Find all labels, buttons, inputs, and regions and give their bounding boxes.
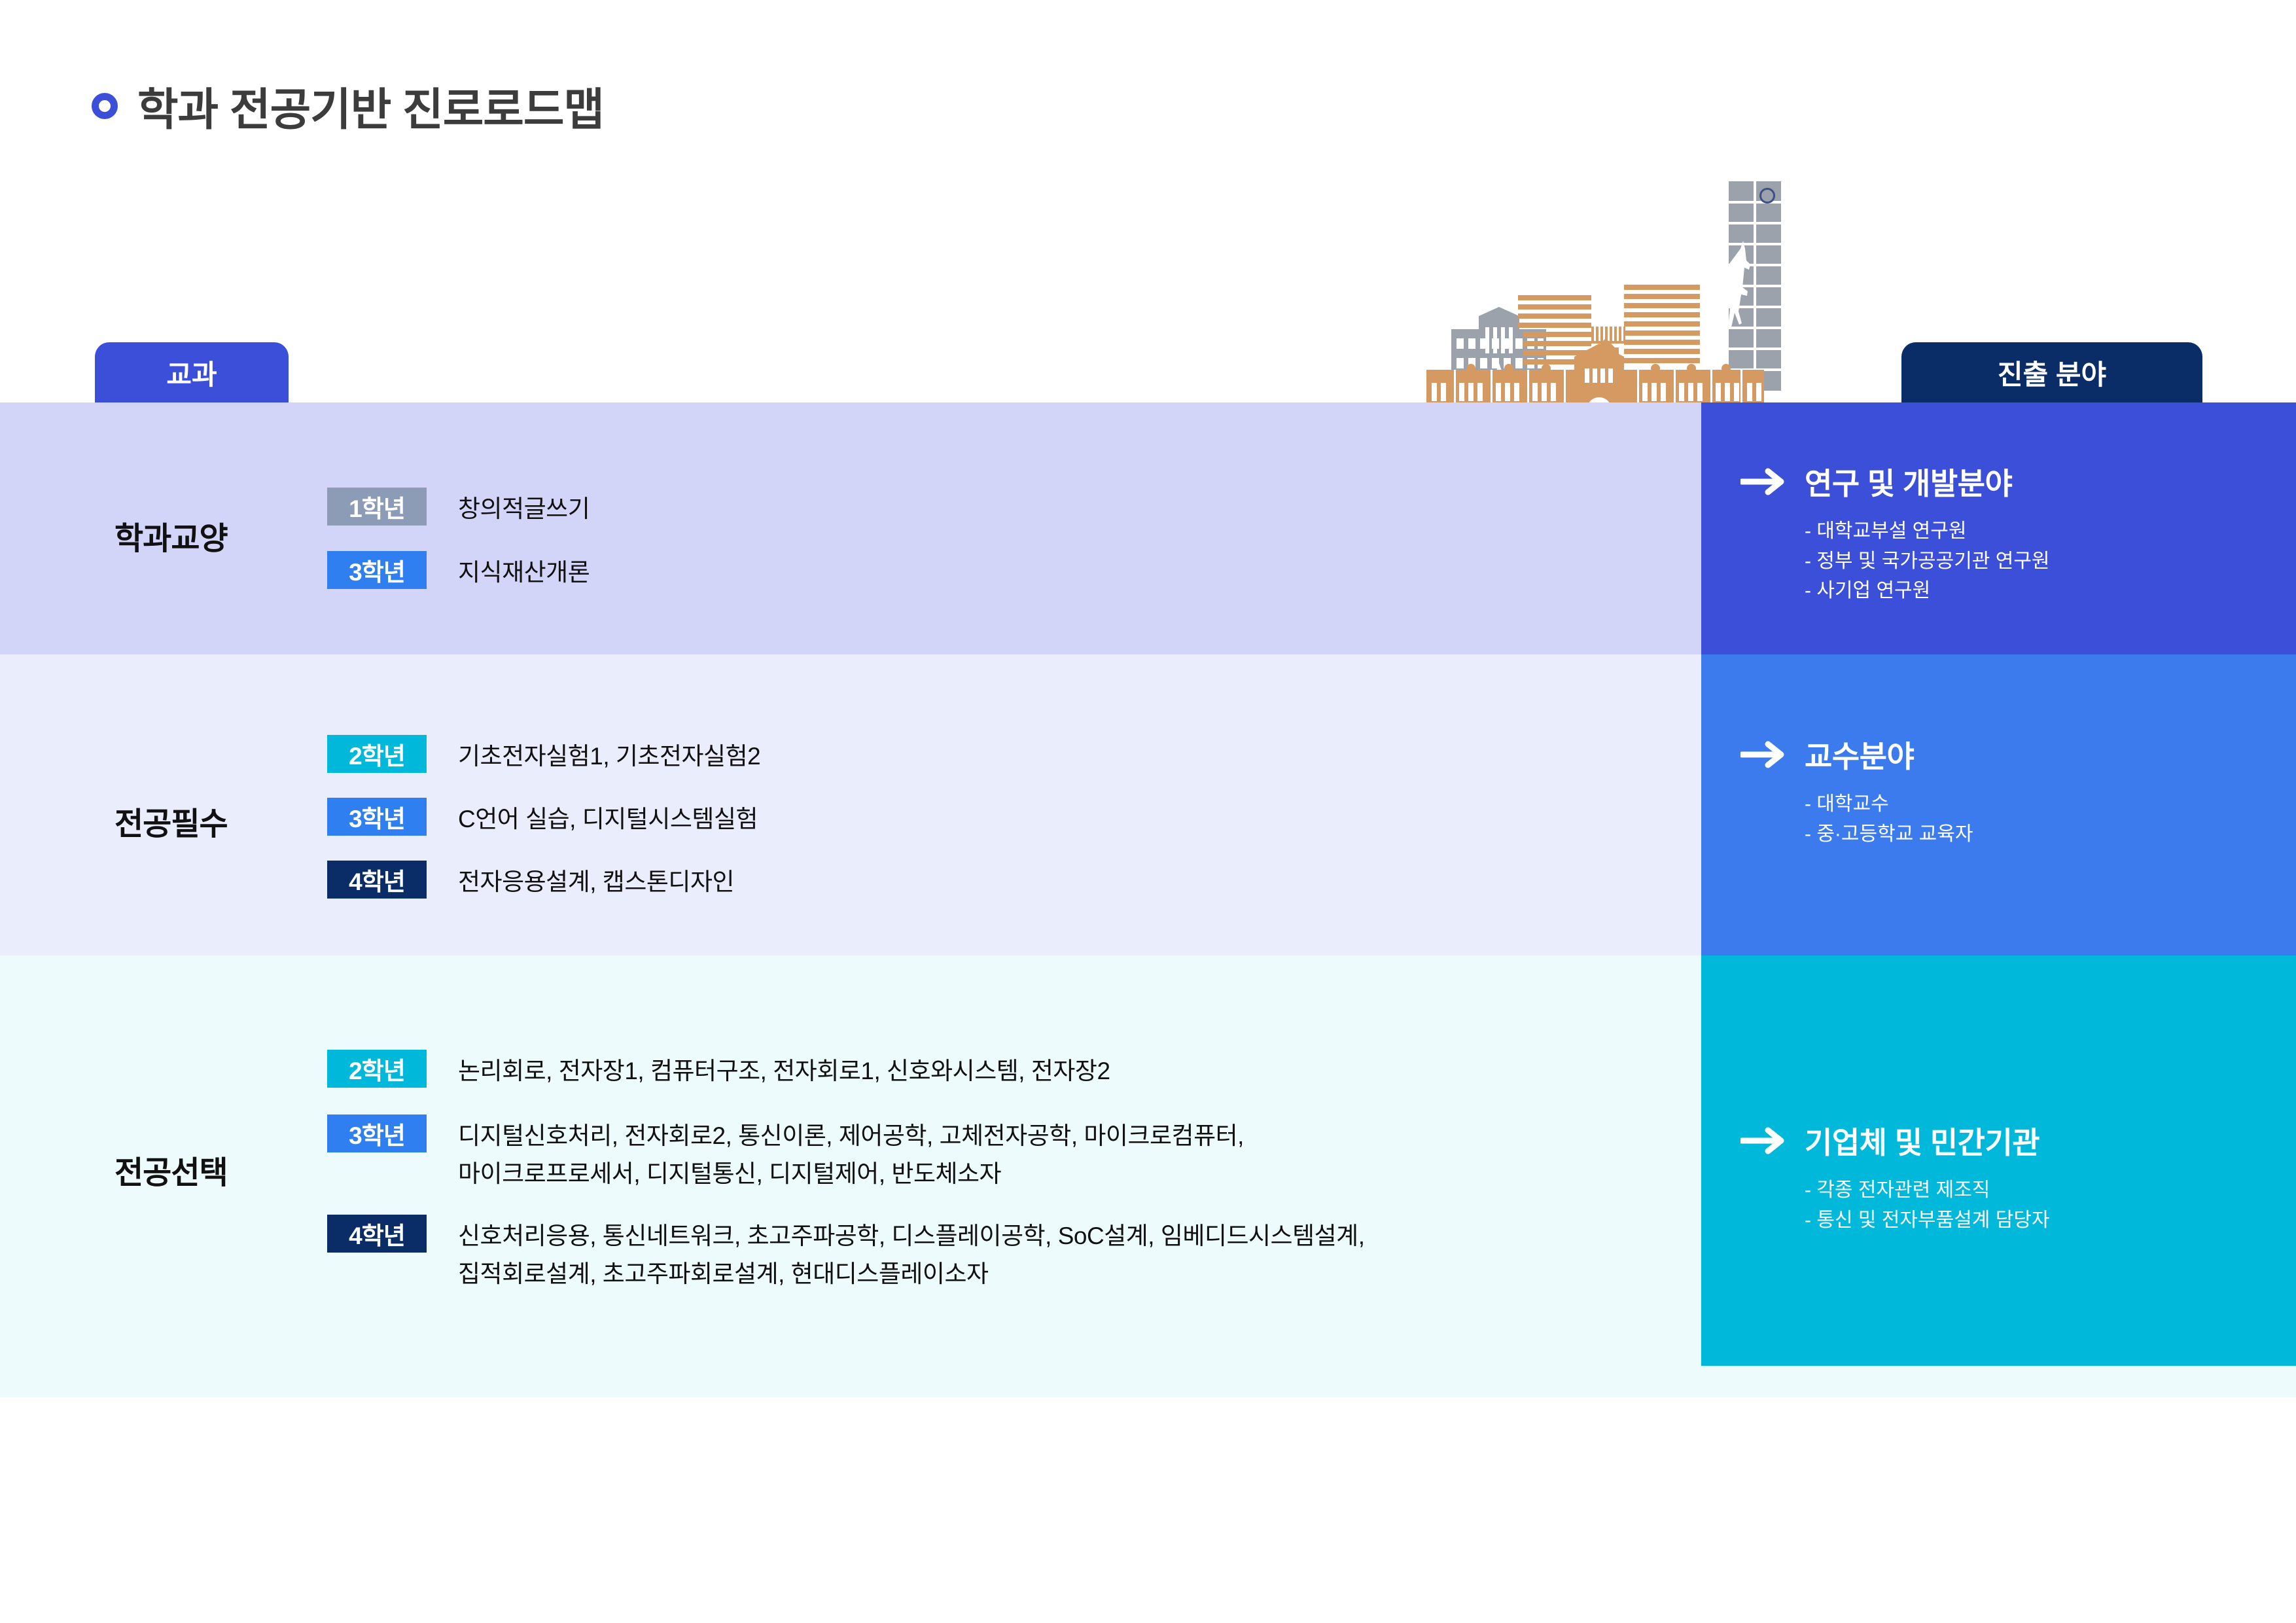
tab-career-fields[interactable]: 진출 분야 <box>1901 342 2202 402</box>
career-panel-research-header: 연구 및 개발분야 <box>1740 460 2296 503</box>
course-group-required-y3: 3학년 C언어 실습, 디지털시스템실험 <box>327 798 758 838</box>
course-group-elective-y2: 2학년 논리회로, 전자장1, 컴퓨터구조, 전자회로1, 신호와시스템, 전자… <box>327 1050 1110 1090</box>
category-label-elective: 전공선택 <box>115 1147 228 1192</box>
tab-career-fields-label: 진출 분야 <box>1998 353 2106 393</box>
course-group-elective-y3: 3학년 디지털신호처리, 전자회로2, 통신이론, 제어공학, 고체전자공학, … <box>327 1115 1244 1194</box>
list-item: - 중·고등학교 교육자 <box>1805 819 2296 849</box>
course-group-general-y1: 1학년 창의적글쓰기 <box>327 488 590 528</box>
campus-skyline-illustration <box>1413 167 1832 429</box>
grade-badge-3: 3학년 <box>327 1115 427 1152</box>
list-item: - 대학교부설 연구원 <box>1805 516 2296 546</box>
page-title-row: 학과 전공기반 진로로드맵 <box>92 73 604 138</box>
course-list-elective-y3: 디지털신호처리, 전자회로2, 통신이론, 제어공학, 고체전자공학, 마이크로… <box>458 1115 1244 1194</box>
list-item: - 각종 전자관련 제조직 <box>1805 1175 2296 1205</box>
grade-badge-4: 4학년 <box>327 861 427 899</box>
page-title: 학과 전공기반 진로로드맵 <box>137 73 604 138</box>
career-panel-research-list: - 대학교부설 연구원 - 정부 및 국가공공기관 연구원 - 사기업 연구원 <box>1805 516 2296 606</box>
course-list-required-y4: 전자응용설계, 캡스톤디자인 <box>458 861 734 901</box>
course-list-elective-y4: 신호처리응용, 통신네트워크, 초고주파공학, 디스플레이공학, SoC설계, … <box>458 1215 1365 1294</box>
grade-badge-3: 3학년 <box>327 798 427 836</box>
category-label-general: 학과교양 <box>115 512 228 558</box>
career-roadmap-page: 학과 전공기반 진로로드맵 <box>0 0 2296 1623</box>
tab-curriculum-label: 교과 <box>166 353 217 393</box>
grade-badge-1: 1학년 <box>327 488 427 526</box>
list-item: - 사기업 연구원 <box>1805 576 2296 606</box>
career-panel-research-title: 연구 및 개발분야 <box>1805 460 2012 503</box>
career-panel-professor-title: 교수분야 <box>1805 733 1914 776</box>
career-panel-industry-list: - 각종 전자관련 제조직 - 통신 및 전자부품설계 담당자 <box>1805 1175 2296 1235</box>
category-label-required: 전공필수 <box>115 798 228 844</box>
career-panel-industry-header: 기업체 및 민간기관 <box>1740 1119 2296 1162</box>
arrow-right-icon <box>1740 1126 1786 1155</box>
list-item: - 통신 및 전자부품설계 담당자 <box>1805 1205 2296 1236</box>
tab-curriculum[interactable]: 교과 <box>95 342 289 402</box>
course-group-general-y3: 3학년 지식재산개론 <box>327 551 590 592</box>
course-group-required-y4: 4학년 전자응용설계, 캡스톤디자인 <box>327 861 734 901</box>
course-group-required-y2: 2학년 기초전자실험1, 기초전자실험2 <box>327 735 760 776</box>
career-panel-industry: 기업체 및 민간기관 - 각종 전자관련 제조직 - 통신 및 전자부품설계 담… <box>1701 955 2296 1366</box>
course-list-required-y3: C언어 실습, 디지털시스템실험 <box>458 798 758 838</box>
career-panel-industry-title: 기업체 및 민간기관 <box>1805 1119 2040 1162</box>
arrow-right-icon <box>1740 467 1786 496</box>
list-item: - 정부 및 국가공공기관 연구원 <box>1805 546 2296 577</box>
circle-outline-icon <box>92 93 118 119</box>
career-panel-professor-list: - 대학교수 - 중·고등학교 교육자 <box>1805 789 2296 849</box>
career-panel-professor: 교수분야 - 대학교수 - 중·고등학교 교육자 <box>1701 654 2296 955</box>
course-group-elective-y4: 4학년 신호처리응용, 통신네트워크, 초고주파공학, 디스플레이공학, SoC… <box>327 1215 1365 1294</box>
grade-badge-3: 3학년 <box>327 551 427 589</box>
course-list-general-y1: 창의적글쓰기 <box>458 488 590 528</box>
grade-badge-2: 2학년 <box>327 735 427 773</box>
course-list-elective-y2: 논리회로, 전자장1, 컴퓨터구조, 전자회로1, 신호와시스템, 전자장2 <box>458 1050 1110 1090</box>
course-list-general-y3: 지식재산개론 <box>458 551 590 592</box>
career-panel-professor-header: 교수분야 <box>1740 733 2296 776</box>
course-list-required-y2: 기초전자실험1, 기초전자실험2 <box>458 735 760 776</box>
career-panel-research: 연구 및 개발분야 - 대학교부설 연구원 - 정부 및 국가공공기관 연구원 … <box>1701 402 2296 654</box>
grade-badge-2: 2학년 <box>327 1050 427 1088</box>
list-item: - 대학교수 <box>1805 789 2296 819</box>
grade-badge-4: 4학년 <box>327 1215 427 1253</box>
arrow-right-icon <box>1740 740 1786 769</box>
